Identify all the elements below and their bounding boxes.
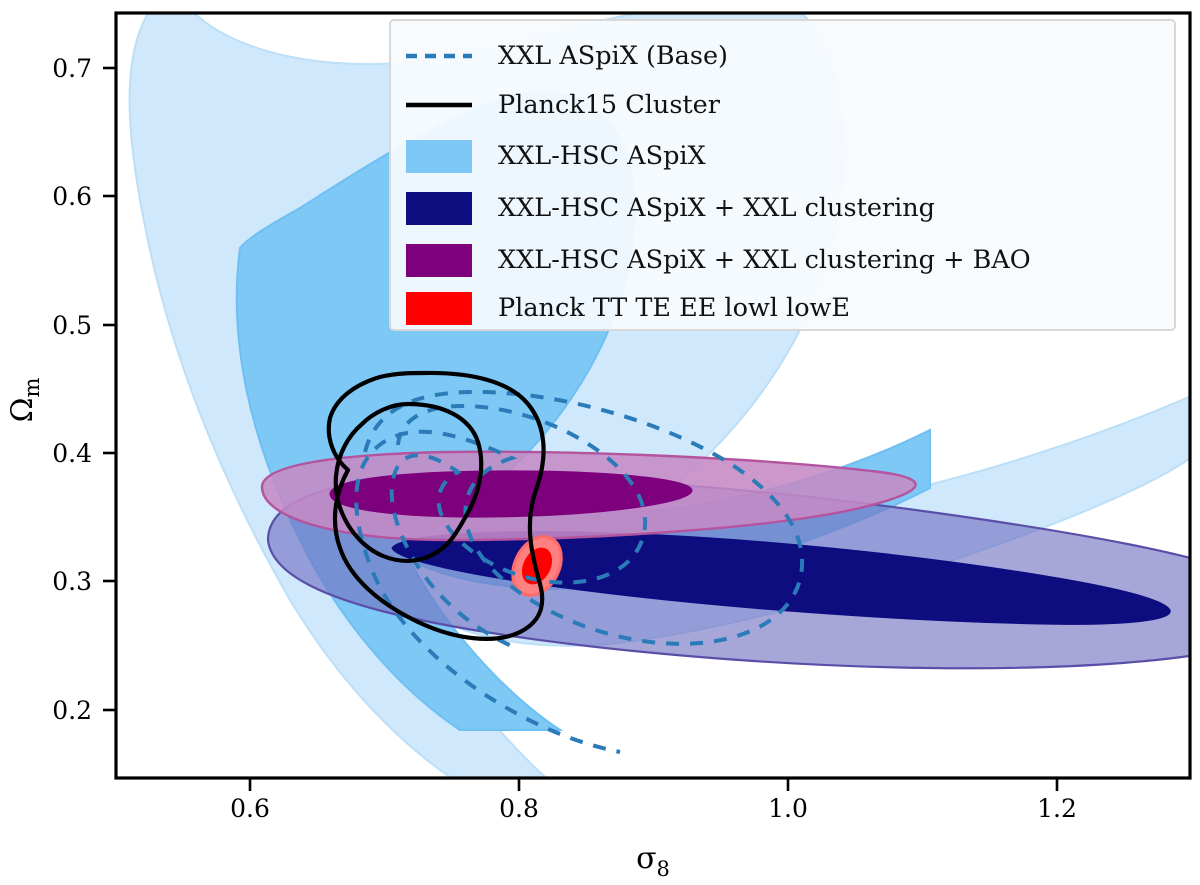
y-tick-label: 0.4 [52, 439, 92, 468]
legend-swatch-icon [406, 244, 472, 277]
legend-item-label: Planck15 Cluster [498, 90, 721, 120]
x-tick-label: 1.0 [768, 794, 808, 823]
y-tick-label: 0.6 [52, 182, 92, 211]
legend-item-label: XXL-HSC ASpiX + XXL clustering + BAO [498, 245, 1031, 275]
x-axis-title-base: σ [636, 841, 656, 876]
legend-item-label: XXL-HSC ASpiX [498, 141, 707, 171]
legend: XXL ASpiX (Base) Planck15 Cluster XXL-HS… [390, 20, 1175, 330]
y-tick-label: 0.2 [52, 696, 92, 725]
figure-canvas: 0.6 0.8 1.0 1.2 0.2 0.3 0.4 0.5 0.6 0.7 … [0, 0, 1200, 885]
legend-swatch-icon [406, 192, 472, 225]
legend-item-xxlhsc-aspix[interactable]: XXL-HSC ASpiX [406, 140, 707, 173]
legend-item-label: Planck TT TE EE lowl lowE [498, 293, 850, 323]
legend-swatch-icon [406, 292, 472, 325]
y-tick-label: 0.3 [52, 567, 92, 596]
x-tick-label: 0.6 [230, 794, 270, 823]
legend-item-clustering-bao[interactable]: XXL-HSC ASpiX + XXL clustering + BAO [406, 244, 1031, 277]
y-tick-label: 0.5 [52, 311, 92, 340]
contour-plot: 0.6 0.8 1.0 1.2 0.2 0.3 0.4 0.5 0.6 0.7 … [0, 0, 1200, 885]
y-tick-label: 0.7 [52, 54, 92, 83]
y-axis-title-base: Ω [5, 398, 40, 423]
x-tick-label: 0.8 [499, 794, 539, 823]
legend-swatch-icon [406, 140, 472, 173]
legend-item-label: XXL-HSC ASpiX + XXL clustering [498, 193, 935, 223]
x-axis-title-sub: 8 [657, 857, 670, 881]
x-tick-label: 1.2 [1037, 794, 1077, 823]
y-axis-title-sub: m [20, 378, 44, 398]
legend-item-label: XXL ASpiX (Base) [498, 41, 728, 71]
